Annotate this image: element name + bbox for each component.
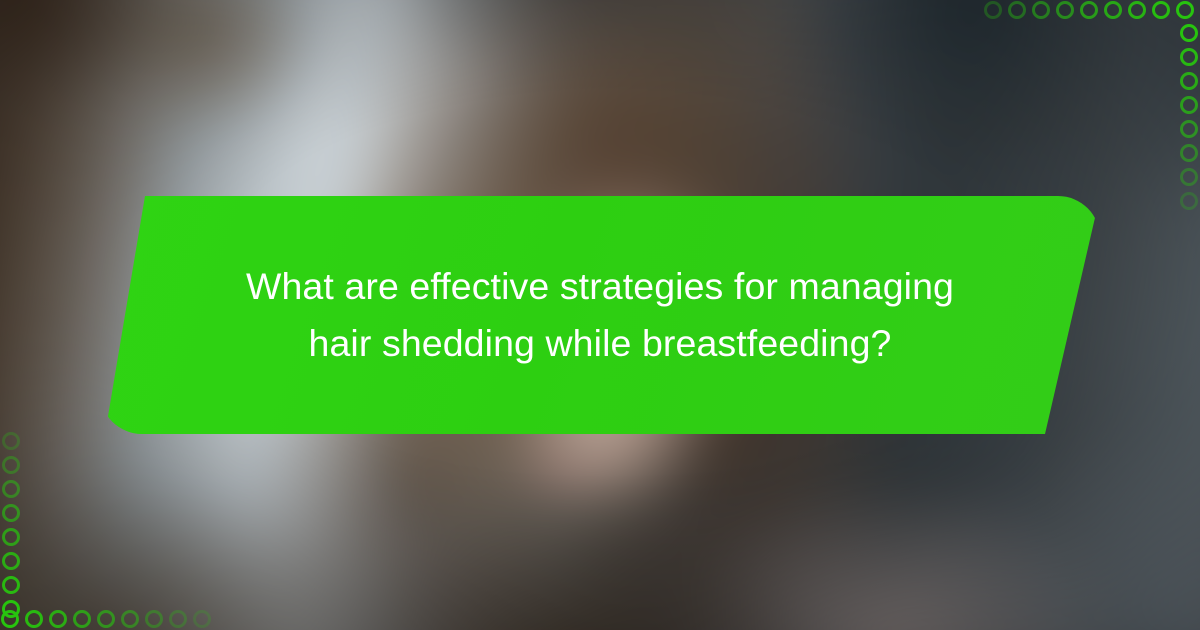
decorative-dot: [1180, 96, 1198, 114]
decorative-dot: [2, 432, 20, 450]
decorative-dot: [1080, 1, 1098, 19]
decorative-dot: [25, 610, 43, 628]
quote-card: What are effective strategies for managi…: [0, 0, 1200, 630]
decorative-dot: [1056, 1, 1074, 19]
decorative-dot: [2, 480, 20, 498]
decorative-dot: [1180, 192, 1198, 210]
decorative-dot: [1152, 1, 1170, 19]
decorative-dot: [1180, 144, 1198, 162]
headline-banner: What are effective strategies for managi…: [100, 196, 1100, 434]
decorative-dot: [2, 528, 20, 546]
decorative-dot: [49, 610, 67, 628]
decorative-dot: [1128, 1, 1146, 19]
decorative-dot: [1032, 1, 1050, 19]
decorative-dot: [97, 610, 115, 628]
decorative-dot: [169, 610, 187, 628]
decorative-dot: [1104, 1, 1122, 19]
decorative-dot: [2, 456, 20, 474]
decorative-dot: [1, 610, 19, 628]
decorative-dot: [1008, 1, 1026, 19]
decorative-dot: [121, 610, 139, 628]
headline-text: What are effective strategies for managi…: [120, 258, 1080, 372]
decorative-dot: [1180, 48, 1198, 66]
dot-group-left: [2, 432, 20, 624]
dot-group-top-right: [984, 1, 1200, 19]
decorative-dot: [1180, 168, 1198, 186]
decorative-dot: [73, 610, 91, 628]
dot-group-bottom-left: [1, 610, 217, 628]
decorative-dot: [2, 504, 20, 522]
decorative-dot: [1176, 1, 1194, 19]
decorative-dot: [145, 610, 163, 628]
decorative-dot: [1180, 24, 1198, 42]
decorative-dot: [2, 552, 20, 570]
decorative-dot: [984, 1, 1002, 19]
decorative-dot: [2, 576, 20, 594]
decorative-dot: [193, 610, 211, 628]
decorative-dot: [1180, 72, 1198, 90]
dot-group-right: [1180, 24, 1198, 216]
decorative-dot: [1180, 120, 1198, 138]
